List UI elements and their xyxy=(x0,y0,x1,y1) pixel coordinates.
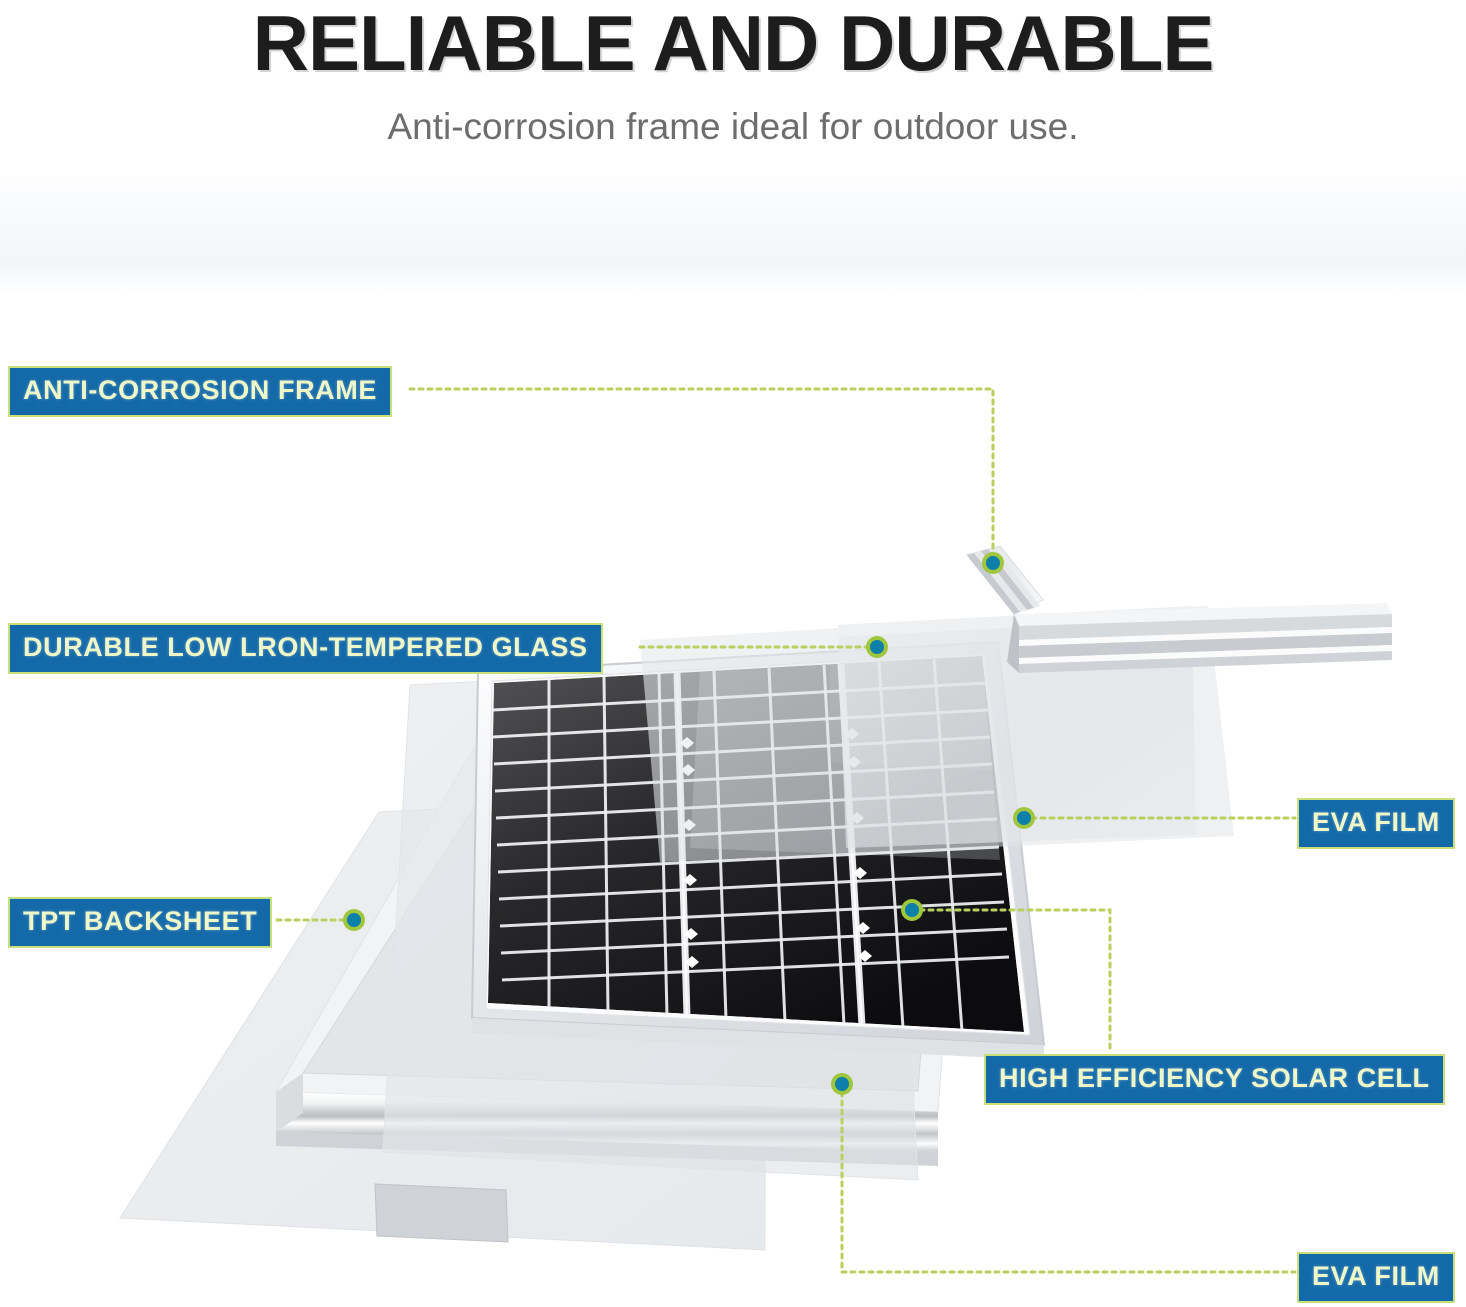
anchor-dot-tpt-backsheet-core xyxy=(347,913,361,927)
callout-anti-corrosion-frame[interactable]: ANTI-CORROSION FRAME xyxy=(8,366,392,417)
anchor-dot-eva-film-bottom-core xyxy=(835,1077,849,1091)
leader-eva-film-bottom xyxy=(842,1092,1295,1272)
callout-tempered-glass[interactable]: DURABLE LOW LRON-TEMPERED GLASS xyxy=(8,623,603,674)
callout-eva-film-top[interactable]: EVA FILM xyxy=(1297,798,1455,849)
leader-high-efficiency-cell xyxy=(920,910,1110,1050)
leader-anti-corrosion-frame xyxy=(410,389,993,556)
callout-high-efficiency-solar-cell[interactable]: HIGH EFFICIENCY SOLAR CELL xyxy=(984,1054,1445,1105)
anchor-dot-high-efficiency-cell-core xyxy=(905,903,919,917)
callout-tpt-backsheet[interactable]: TPT BACKSHEET xyxy=(8,897,272,948)
anchor-dot-tempered-glass-core xyxy=(870,640,884,654)
anchor-dot-eva-film-top-core xyxy=(1017,811,1031,825)
anchor-dot-anti-corrosion-frame-core xyxy=(986,556,1000,570)
callout-eva-film-bottom[interactable]: EVA FILM xyxy=(1297,1252,1455,1303)
